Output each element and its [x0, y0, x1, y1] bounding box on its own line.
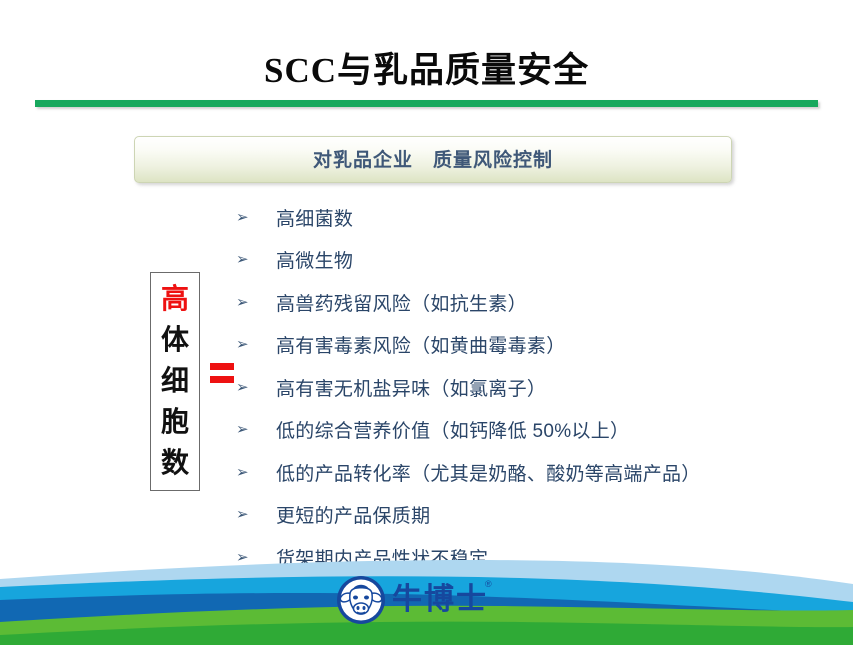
arrowhead-bullet-icon: ➢ [236, 422, 276, 437]
arrowhead-bullet-icon: ➢ [236, 252, 276, 267]
list-item: ➢ 高兽药残留风险（如抗生素） [236, 281, 836, 324]
list-item-label: 低的综合营养价值（如钙降低 50%以上） [276, 416, 629, 443]
cow-head-logo-icon [336, 575, 386, 625]
slide-title: SCC与乳品质量安全 [0, 42, 853, 93]
list-item: ➢ 高有害无机盐异味（如氯离子） [236, 366, 836, 409]
list-item-label: 高微生物 [276, 246, 353, 273]
equals-bar-bottom [210, 376, 234, 383]
list-item-label: 更短的产品保质期 [276, 501, 430, 528]
logo-wordmark: 牛博士 [392, 581, 488, 619]
title-divider-rule [35, 100, 818, 107]
arrowhead-bullet-icon: ➢ [236, 337, 276, 352]
list-item-label: 低的产品转化率（尤其是奶酪、酸奶等高端产品） [276, 459, 701, 486]
list-item: ➢ 高有害毒素风险（如黄曲霉毒素） [236, 324, 836, 367]
equals-sign-icon [210, 360, 234, 386]
list-item: ➢ 高细菌数 [236, 196, 836, 239]
term-char-2: 细 [161, 361, 189, 402]
list-item-label: 高有害毒素风险（如黄曲霉毒素） [276, 331, 566, 358]
term-box-high-somatic-cell-count: 高 体 细 胞 数 [150, 272, 200, 491]
term-char-1: 体 [161, 320, 189, 361]
arrowhead-bullet-icon: ➢ [236, 507, 276, 522]
bullet-list: ➢ 高细菌数 ➢ 高微生物 ➢ 高兽药残留风险（如抗生素） ➢ 高有害毒素风险（… [236, 196, 836, 579]
term-char-3: 胞 [161, 402, 189, 443]
list-item: ➢ 低的产品转化率（尤其是奶酪、酸奶等高端产品） [236, 451, 836, 494]
list-item: ➢ 低的综合营养价值（如钙降低 50%以上） [236, 409, 836, 452]
presentation-slide: SCC与乳品质量安全 对乳品企业 质量风险控制 高 体 细 胞 数 ➢ 高细菌数… [0, 0, 853, 645]
brand-logo: 牛博士 ® [336, 575, 496, 627]
list-item-label: 高有害无机盐异味（如氯离子） [276, 374, 546, 401]
list-item-label: 高细菌数 [276, 204, 353, 231]
term-char-4: 数 [161, 443, 189, 484]
term-char-0: 高 [161, 279, 189, 320]
section-banner-label: 对乳品企业 质量风险控制 [135, 137, 731, 184]
arrowhead-bullet-icon: ➢ [236, 295, 276, 310]
trademark-icon: ® [485, 579, 492, 589]
equals-bar-top [210, 363, 234, 370]
arrowhead-bullet-icon: ➢ [236, 210, 276, 225]
list-item: ➢ 高微生物 [236, 239, 836, 282]
section-banner: 对乳品企业 质量风险控制 [134, 136, 732, 183]
arrowhead-bullet-icon: ➢ [236, 465, 276, 480]
list-item: ➢ 更短的产品保质期 [236, 494, 836, 537]
arrowhead-bullet-icon: ➢ [236, 380, 276, 395]
list-item-label: 高兽药残留风险（如抗生素） [276, 289, 527, 316]
